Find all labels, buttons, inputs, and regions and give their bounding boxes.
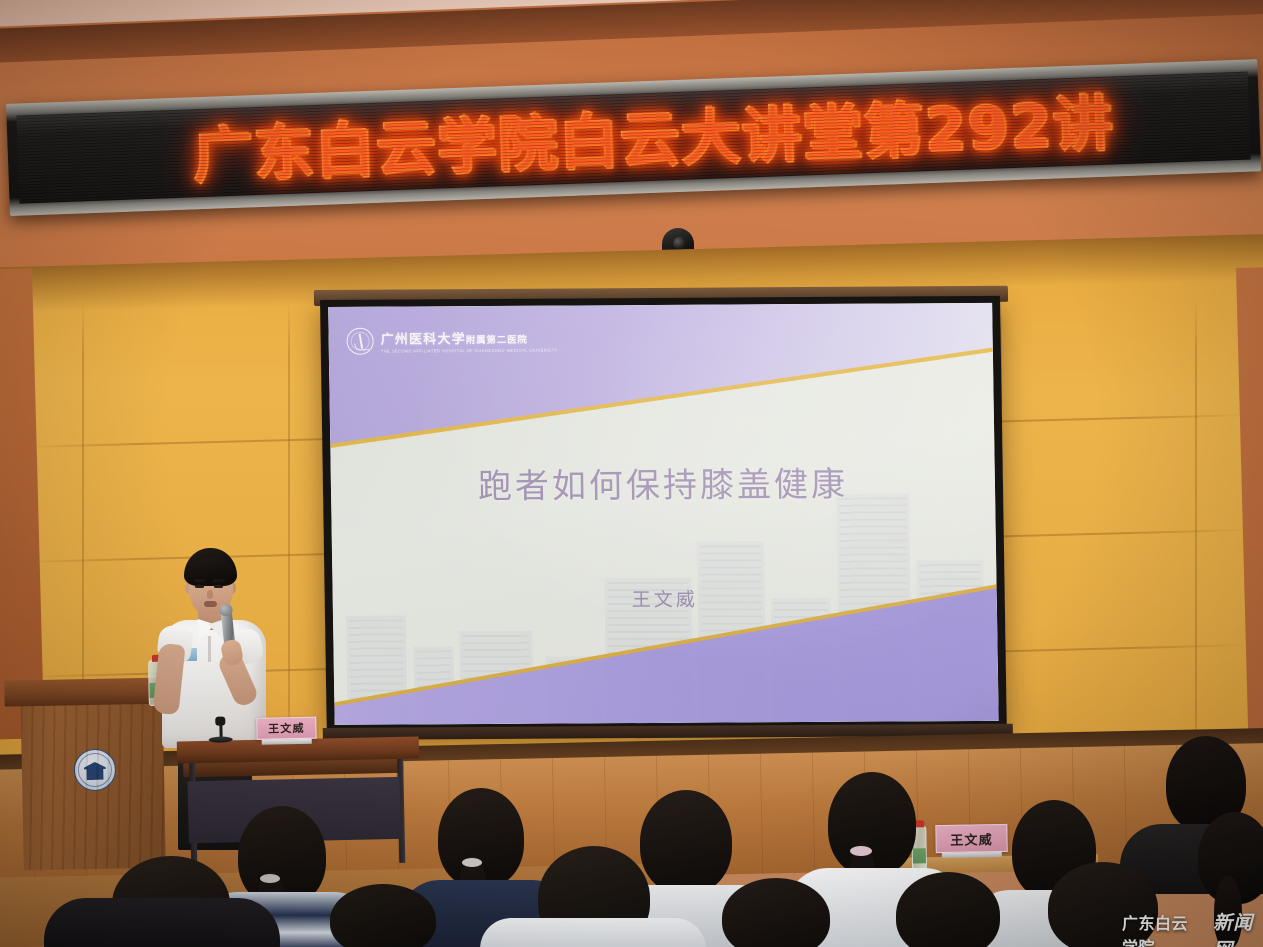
- watermark: 广东白云学院 新闻网: [1122, 908, 1263, 947]
- watermark-site: 新闻网: [1213, 908, 1263, 947]
- audience-hair-tie: [462, 858, 482, 867]
- audience-hair-tie: [850, 846, 872, 856]
- watermark-institution: 广东白云学院: [1122, 910, 1204, 947]
- lecture-hall-photo: 广东白云学院白云大讲堂第292讲: [0, 0, 1263, 947]
- audience-hair-tie: [260, 874, 280, 883]
- audience-head: [896, 872, 1000, 947]
- audience-head: [330, 884, 436, 947]
- audience-shoulders: [480, 918, 706, 947]
- audience-head: [640, 790, 732, 894]
- audience-shoulders: [44, 898, 280, 947]
- audience: [0, 0, 1263, 947]
